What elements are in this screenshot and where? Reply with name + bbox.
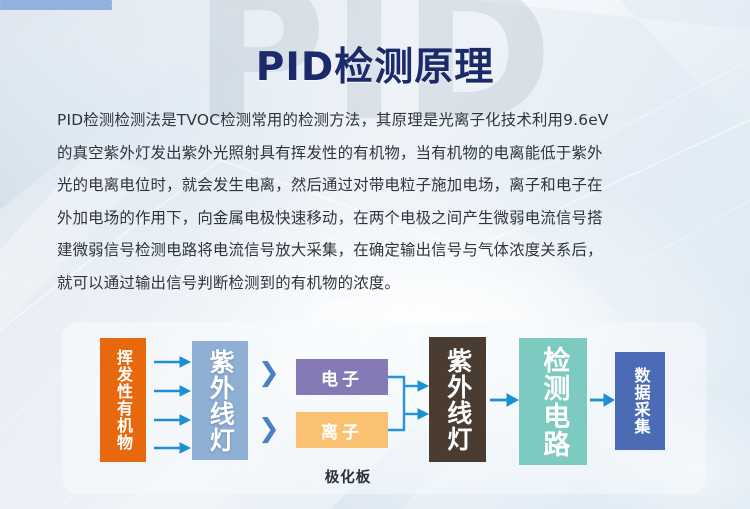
box-label: 离子 (321, 418, 363, 443)
arrow-circuit-to-dataacq (590, 394, 614, 406)
arrow-particles-to-lamp2 (388, 377, 418, 430)
arrow-voc-to-lamp-3 (154, 415, 190, 425)
box-electron: 电子 (296, 359, 388, 395)
box-label: 数据采集 (632, 367, 649, 435)
box-ion: 离子 (296, 412, 388, 448)
arrow-voc-to-lamp-1 (154, 357, 190, 367)
box-volatile-organic-compounds: 挥发性有机物 (100, 338, 146, 462)
polarization-plate-label: 极化板 (292, 466, 404, 487)
box-detection-circuit: 检测电路 (519, 338, 587, 465)
arrow-voc-to-lamp-2 (154, 386, 190, 396)
box-label: 挥发性有机物 (115, 349, 131, 451)
arrow-lamp2-to-circuit (490, 394, 518, 406)
chevron-ion-icon: ❯ (258, 416, 280, 442)
box-label: 检测电路 (539, 346, 568, 458)
box-label: 电子 (321, 365, 363, 390)
box-uv-lamp-electrode: 紫外线灯 (429, 337, 486, 462)
pid-flow-diagram: ❯ ❯ 挥发性有机物 紫外线灯 电子 离子 极化板 紫外线灯 检测电路 数据采集 (0, 0, 750, 509)
chevron-electron-icon: ❯ (258, 360, 280, 386)
infographic-page: PID PID检测原理 PID检测检测法是TVOC检测常用的检测方法，其原理是光… (0, 0, 750, 509)
box-label: 紫外线灯 (444, 348, 471, 452)
box-data-acquisition: 数据采集 (615, 352, 665, 450)
box-label: 紫外线灯 (207, 349, 234, 453)
arrow-voc-to-lamp-4 (154, 443, 190, 453)
box-uv-lamp-source: 紫外线灯 (192, 341, 248, 460)
